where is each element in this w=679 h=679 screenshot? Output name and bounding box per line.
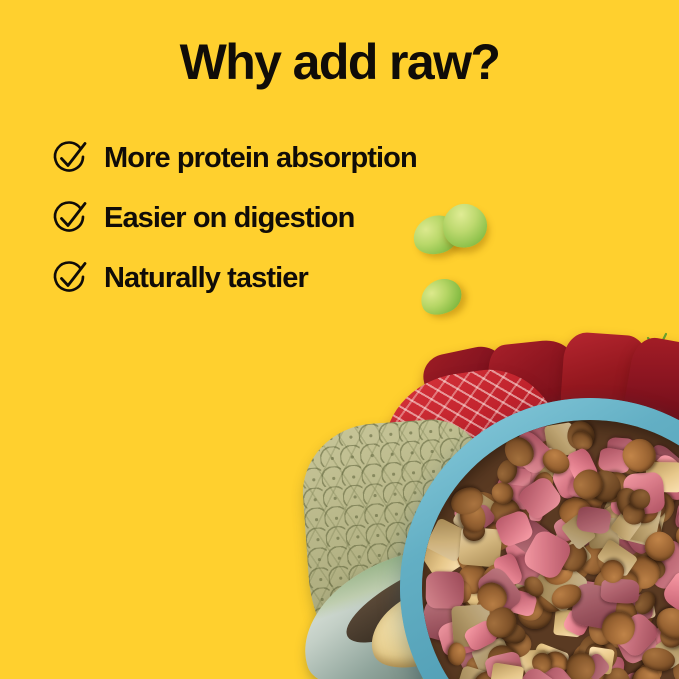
list-item: Naturally tastier: [50, 248, 570, 308]
page-title: Why add raw?: [0, 36, 679, 89]
benefit-list: More protein absorption Easier on digest…: [50, 128, 570, 308]
check-circle-icon: [50, 198, 90, 238]
check-circle-icon: [50, 138, 90, 178]
raw-food-composition: [250, 310, 679, 679]
freeze-dried-meat-chunk: [575, 505, 612, 534]
list-item-label: Easier on digestion: [104, 202, 354, 235]
list-item-label: More protein absorption: [104, 142, 417, 175]
check-circle-icon: [50, 258, 90, 298]
list-item: Easier on digestion: [50, 188, 570, 248]
freeze-dried-meat-chunk: [600, 577, 640, 604]
list-item-label: Naturally tastier: [104, 262, 308, 295]
freeze-dried-meat-chunk: [425, 570, 463, 608]
kibble: [601, 611, 635, 645]
promotional-graphic: Why add raw? More protein absorption Eas…: [0, 0, 679, 679]
list-item: More protein absorption: [50, 128, 570, 188]
